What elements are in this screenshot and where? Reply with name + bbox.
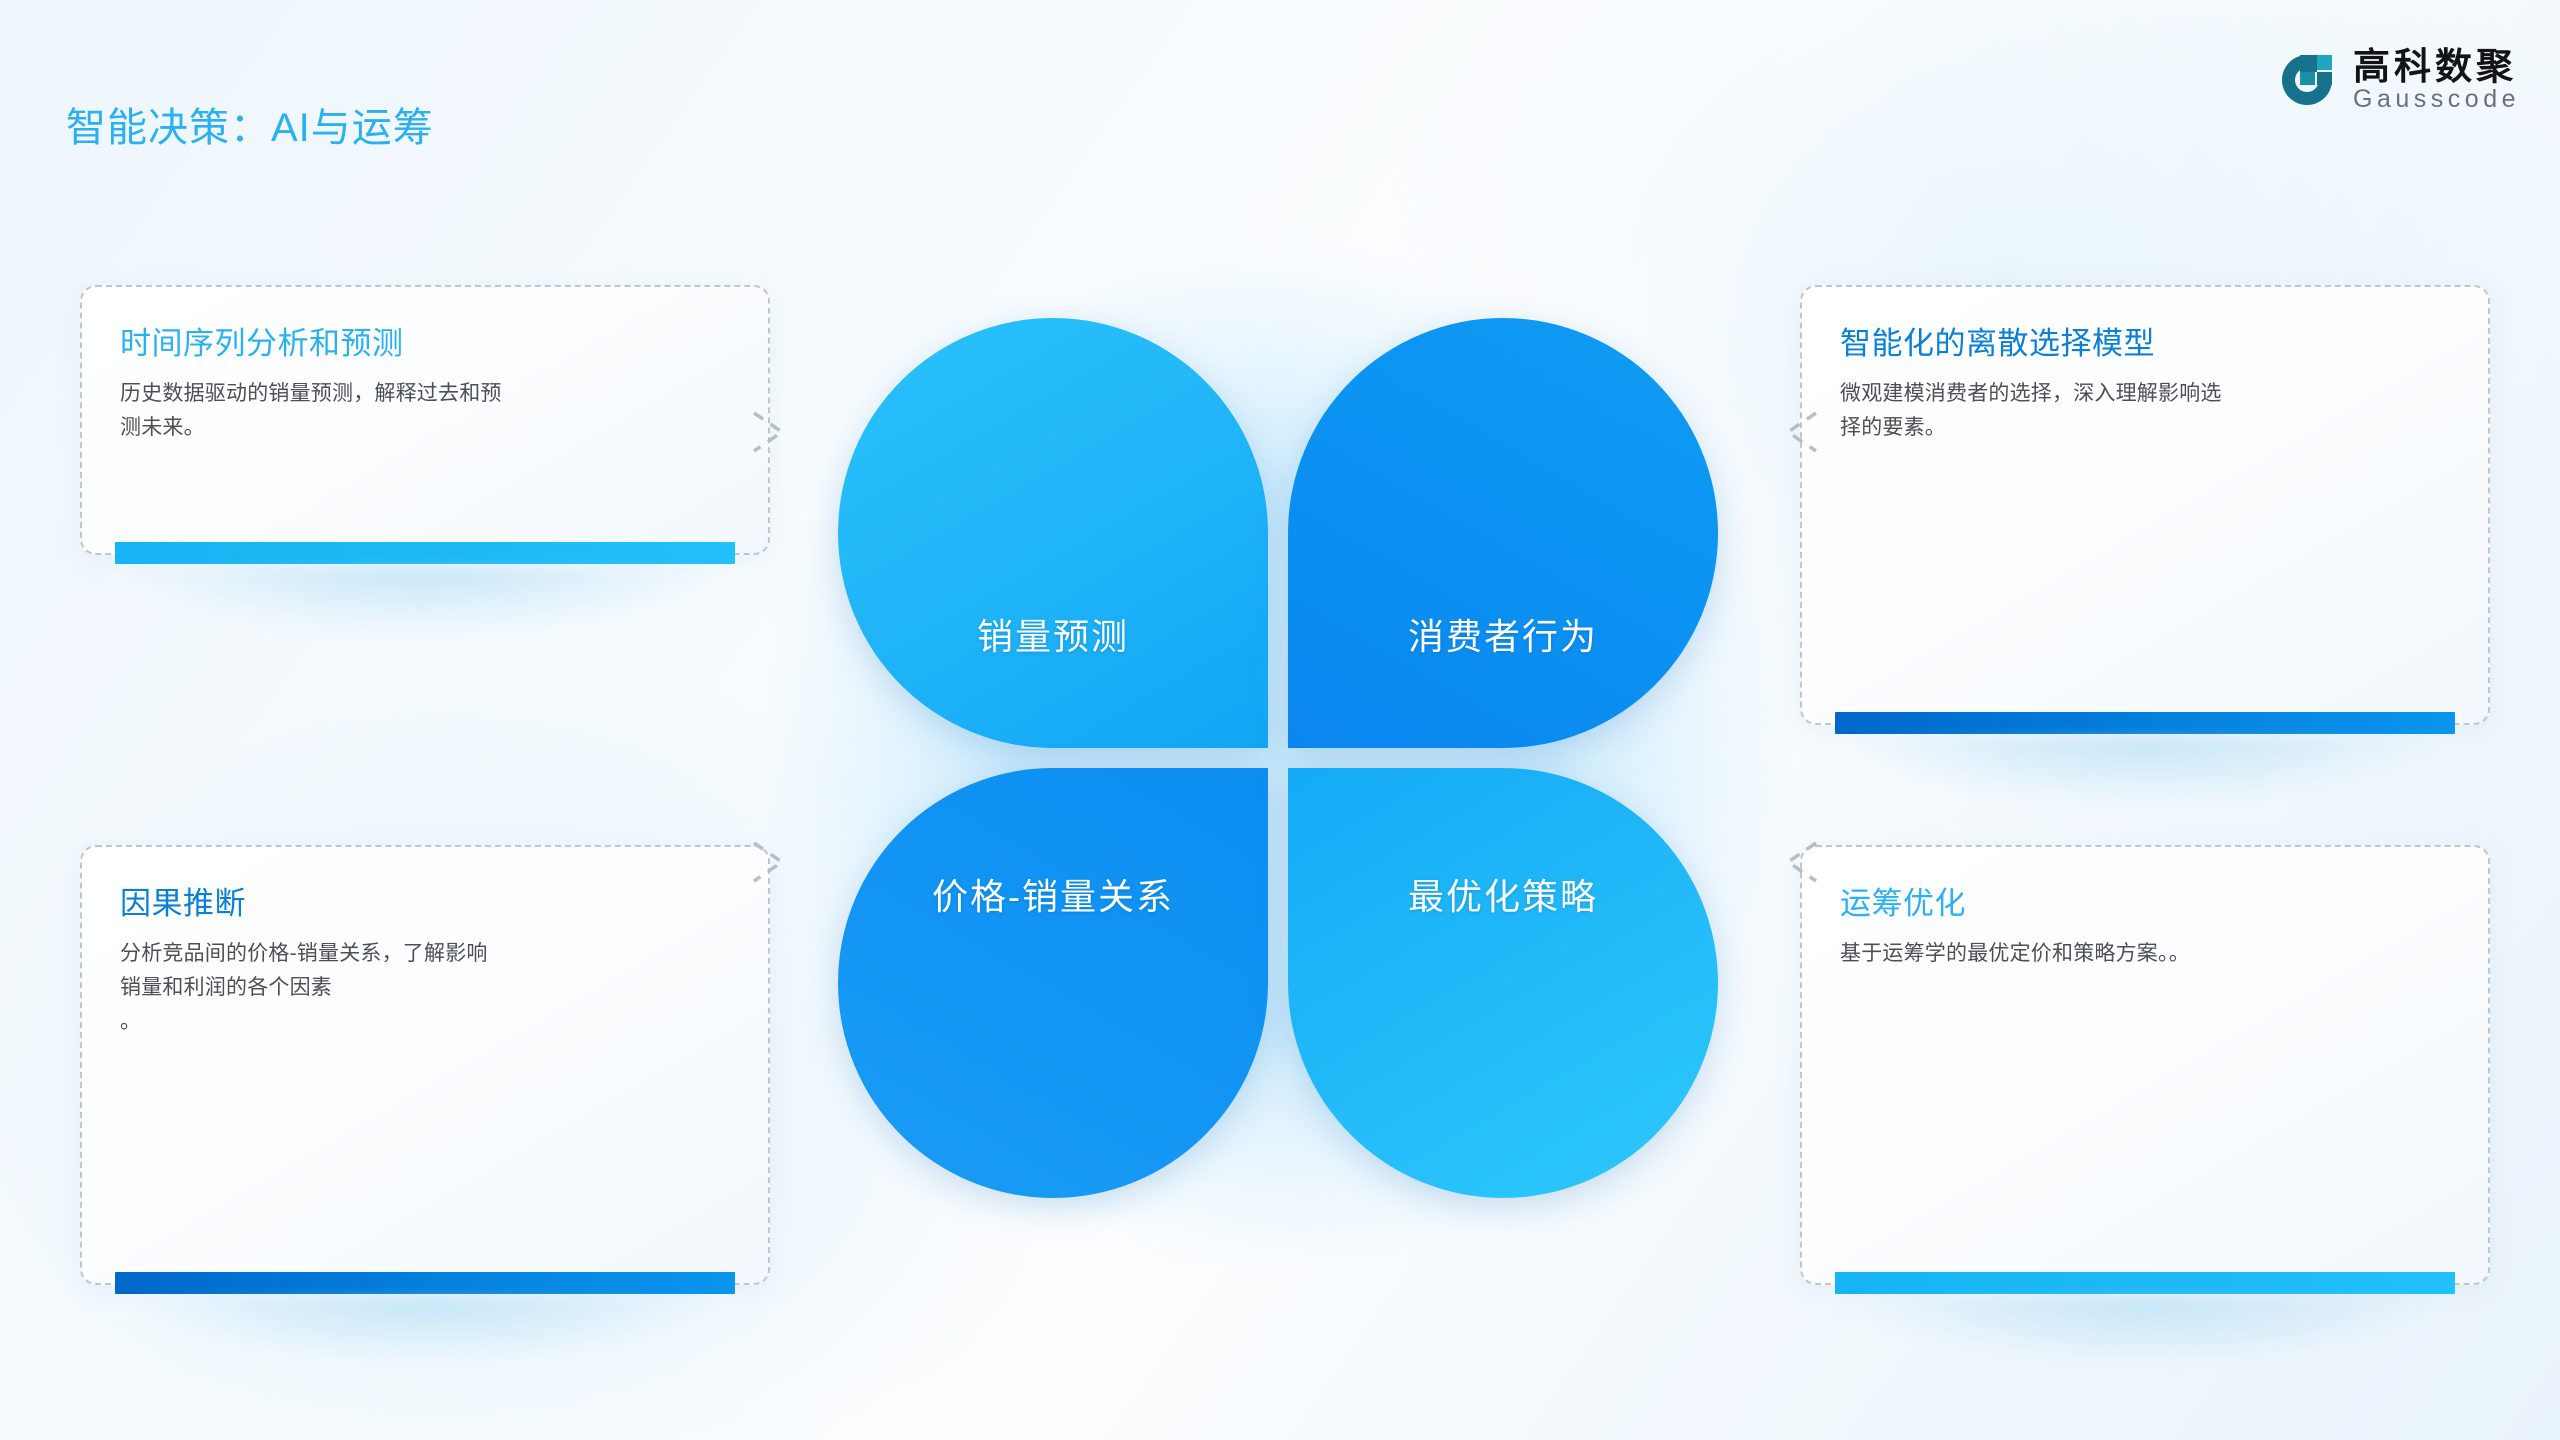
- petal-optimization-strategy[interactable]: 最优化策略: [1288, 768, 1718, 1198]
- card-content: 智能化的离散选择模型 微观建模消费者的选择，深入理解影响选 择的要素。: [1840, 325, 2450, 445]
- petal-price-volume-relation[interactable]: 价格-销量关系: [838, 768, 1268, 1198]
- card-description: 基于运筹学的最优定价和策略方案。。: [1840, 937, 2450, 971]
- brand-name-cn: 高科数聚: [2353, 48, 2520, 85]
- card-accent-bar: [1835, 712, 2455, 734]
- page-header: 智能决策：AI与运筹 高科数聚 Gausscode: [0, 0, 2560, 170]
- card-bar-glow: [128, 1297, 722, 1365]
- card-description: 分析竞品间的价格-销量关系，了解影响 销量和利润的各个因素 。: [120, 937, 730, 1039]
- card-time-series-analysis[interactable]: 时间序列分析和预测 历史数据驱动的销量预测，解释过去和预 测未来。: [80, 285, 770, 555]
- chevron-right-icon: [748, 403, 794, 461]
- petal-label: 消费者行为: [1288, 608, 1718, 660]
- card-content: 时间序列分析和预测 历史数据驱动的销量预测，解释过去和预 测未来。: [120, 325, 730, 445]
- card-title: 智能化的离散选择模型: [1840, 325, 2450, 364]
- chevron-right-icon: [748, 833, 794, 891]
- card-content: 因果推断 分析竞品间的价格-销量关系，了解影响 销量和利润的各个因素 。: [120, 885, 730, 1039]
- card-description: 微观建模消费者的选择，深入理解影响选 择的要素。: [1840, 377, 2450, 445]
- card-title: 时间序列分析和预测: [120, 325, 730, 364]
- petal-sales-forecast[interactable]: 销量预测: [838, 318, 1268, 748]
- card-operations-optimization[interactable]: 运筹优化 基于运筹学的最优定价和策略方案。。: [1800, 845, 2490, 1285]
- card-accent-bar: [1835, 1272, 2455, 1294]
- card-bar-glow: [128, 567, 722, 635]
- gausscode-g-logo-icon: [2278, 51, 2336, 109]
- card-content: 运筹优化 基于运筹学的最优定价和策略方案。。: [1840, 885, 2450, 971]
- brand-logo: 高科数聚 Gausscode: [2278, 48, 2520, 112]
- card-title: 因果推断: [120, 885, 730, 924]
- petal-label: 最优化策略: [1288, 868, 1718, 920]
- page-title: 智能决策：AI与运筹: [66, 108, 434, 148]
- chevron-left-icon: [1776, 403, 1822, 461]
- petal-label: 销量预测: [838, 608, 1268, 660]
- card-accent-bar: [115, 1272, 735, 1294]
- petal-label: 价格-销量关系: [838, 868, 1268, 920]
- clover-diagram: 销量预测 消费者行为 价格-销量关系 最优化策略: [838, 318, 1718, 1198]
- card-bar-glow: [1848, 737, 2442, 805]
- card-causal-inference[interactable]: 因果推断 分析竞品间的价格-销量关系，了解影响 销量和利润的各个因素 。: [80, 845, 770, 1285]
- petal-consumer-behavior[interactable]: 消费者行为: [1288, 318, 1718, 748]
- card-discrete-choice-model[interactable]: 智能化的离散选择模型 微观建模消费者的选择，深入理解影响选 择的要素。: [1800, 285, 2490, 725]
- card-title: 运筹优化: [1840, 885, 2450, 924]
- chevron-left-icon: [1776, 833, 1822, 891]
- card-accent-bar: [115, 542, 735, 564]
- card-bar-glow: [1848, 1297, 2442, 1365]
- card-description: 历史数据驱动的销量预测，解释过去和预 测未来。: [120, 377, 730, 445]
- brand-name-en: Gausscode: [2353, 86, 2520, 112]
